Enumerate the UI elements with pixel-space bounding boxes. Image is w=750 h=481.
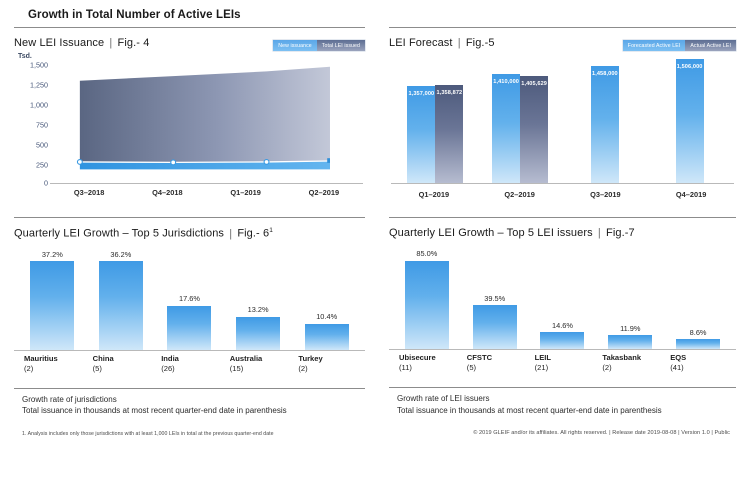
fig4-ytick-1000: 1,000 <box>30 101 48 110</box>
fig4-xlabel-q3-2018: Q3–2018 <box>50 188 128 197</box>
fig6-category-count-mauritius: (2) <box>24 364 87 374</box>
fig4-title-text: New LEI Issuance <box>14 37 104 49</box>
fig6-figure-label: Fig.- 6 <box>237 228 269 240</box>
fig4-legend-item-new-issuance[interactable]: New issuance <box>273 40 317 51</box>
fig7-title-separator: | <box>596 227 603 239</box>
fig5-bar-label-forecast-q2-2019: 1,410,000 <box>493 79 519 85</box>
fig4-marker-q4-2018 <box>171 160 176 165</box>
fig4-ytick-250: 250 <box>36 161 48 170</box>
fig6-category-name-china: China <box>93 354 156 364</box>
fig7-chart: 85.0% 39.5% 14.6% 11.9% <box>389 245 736 385</box>
fig7-bar-takasbank[interactable] <box>608 335 652 349</box>
fig6-value-china: 36.2% <box>110 250 131 259</box>
fig5-figure-label: Fig.-5 <box>466 37 495 49</box>
fig5-header: LEI Forecast | Fig.-5 Forecasted Active … <box>389 37 736 51</box>
fig6-bars: 37.2% 36.2% 17.6% 13.2% <box>18 250 361 350</box>
fig6-category-name-australia: Australia <box>230 354 293 364</box>
fig7-value-ubisecure: 85.0% <box>416 249 437 258</box>
fig6-value-australia: 13.2% <box>248 305 269 314</box>
fig4-ytick-750: 750 <box>36 121 48 130</box>
fig4-figure-label: Fig.- 4 <box>118 37 150 49</box>
fig6-column-mauritius: 37.2% <box>18 250 87 350</box>
fig6-column-turkey: 10.4% <box>292 250 361 350</box>
fig7-category-leil: LEIL (21) <box>529 353 597 373</box>
fig6-category-count-australia: (15) <box>230 364 293 374</box>
fig7-category-ubisecure: Ubisecure (11) <box>393 353 461 373</box>
fig5-legend-item-forecasted-active-lei[interactable]: Forecasted Active LEI <box>623 40 686 51</box>
fig6-category-count-china: (5) <box>93 364 156 374</box>
fig5-group-q3-2019: 1,458,000 <box>563 59 648 183</box>
fig7-note-growth-rate: Growth rate of LEI issuers <box>397 393 736 405</box>
fig4-xlabel-q1-2019: Q1–2019 <box>207 188 285 197</box>
fig6-category-china: China (5) <box>87 354 156 374</box>
fig5-legend: Forecasted Active LEI Actual Active LEI <box>623 40 736 51</box>
fig4-chart: Tsd. 1,500 1,250 1,000 750 500 250 0 <box>14 55 365 205</box>
fig7-figure-label: Fig.-7 <box>606 227 635 239</box>
fig6-chart: 37.2% 36.2% 17.6% 13.2% <box>14 246 365 386</box>
fig6-category-name-turkey: Turkey <box>298 354 361 364</box>
fig5-bar-label-forecast-q3-2019: 1,458,000 <box>592 71 618 77</box>
fig5-xlabel-q1-2019: Q1–2019 <box>391 190 477 199</box>
fig7-bar-cfstc[interactable] <box>473 305 517 349</box>
fig6-category-australia: Australia (15) <box>224 354 293 374</box>
fig5-group-q2-2019: 1,410,000 1,405,629 <box>478 59 563 183</box>
fig7-column-leil: 14.6% <box>529 249 597 349</box>
fig4-marker-q3-2018 <box>77 160 82 165</box>
fig4-ytick-0: 0 <box>44 179 48 188</box>
fig7-value-eqs: 8.6% <box>690 328 707 337</box>
fig6-notes: Growth rate of jurisdictions Total issua… <box>14 389 365 417</box>
fig4-title-separator: | <box>107 37 114 49</box>
fig4-ytick-500: 500 <box>36 141 48 150</box>
fig5-group-q4-2019: 1,506,000 <box>647 59 732 183</box>
fig5-bar-actual-q1-2019[interactable]: 1,358,872 <box>435 85 463 183</box>
fig4-y-unit: Tsd. <box>18 53 32 60</box>
fig6-column-india: 17.6% <box>155 250 224 350</box>
dashboard-page: Growth in Total Number of Active LEIs Ne… <box>0 0 750 481</box>
fig6-bar-turkey[interactable] <box>305 324 349 350</box>
fig6-footnote-marker: 1 <box>269 227 273 234</box>
fig7-note-total-issuance: Total issuance in thousands at most rece… <box>397 405 736 417</box>
fig5-x-labels: Q1–2019 Q2–2019 Q3–2019 Q4–2019 <box>391 190 734 199</box>
fig5-bar-label-actual-q2-2019: 1,405,629 <box>521 81 547 87</box>
fig4-header: New LEI Issuance | Fig.- 4 New issuance … <box>14 37 365 51</box>
fig6-category-turkey: Turkey (2) <box>292 354 361 374</box>
fig6-category-count-turkey: (2) <box>298 364 361 374</box>
fig6-column-australia: 13.2% <box>224 250 293 350</box>
fig6-category-mauritius: Mauritius (2) <box>18 354 87 374</box>
fig4-legend-item-total-lei-issued[interactable]: Total LEI issued <box>317 40 365 51</box>
fig4-y-axis: Tsd. 1,500 1,250 1,000 750 500 250 0 <box>14 55 48 183</box>
fig6-note-growth-rate: Growth rate of jurisdictions <box>22 394 365 406</box>
fig7-bar-eqs[interactable] <box>676 339 720 349</box>
fig5-xlabel-q3-2019: Q3–2019 <box>563 190 649 199</box>
fig5-bar-forecast-q2-2019[interactable]: 1,410,000 <box>492 74 520 183</box>
fig5-title: LEI Forecast | Fig.-5 <box>389 37 495 49</box>
fig4-plot-area <box>50 63 330 175</box>
fig6-header: Quarterly LEI Growth – Top 5 Jurisdictio… <box>14 227 365 240</box>
fig7-category-name-takasbank: Takasbank <box>602 353 664 363</box>
fig7-category-count-leil: (21) <box>535 363 597 373</box>
fig5-legend-item-actual-active-lei[interactable]: Actual Active LEI <box>685 40 736 51</box>
fig7-title: Quarterly LEI Growth – Top 5 LEI issuers… <box>389 227 635 239</box>
fig7-category-name-cfstc: CFSTC <box>467 353 529 363</box>
chart-panel-fig5: LEI Forecast | Fig.-5 Forecasted Active … <box>375 21 736 205</box>
fig7-category-name-leil: LEIL <box>535 353 597 363</box>
chart-panel-fig4: New LEI Issuance | Fig.- 4 New issuance … <box>14 21 375 205</box>
fig7-category-labels: Ubisecure (11) CFSTC (5) LEIL (21) Takas… <box>393 353 732 373</box>
fig6-note-total-issuance: Total issuance in thousands at most rece… <box>22 405 365 417</box>
fig6-category-name-mauritius: Mauritius <box>24 354 87 364</box>
fig5-bar-forecast-q1-2019[interactable]: 1,357,000 <box>407 86 435 183</box>
fig6-category-india: India (26) <box>155 354 224 374</box>
fig6-column-china: 36.2% <box>87 250 156 350</box>
fig7-value-cfstc: 39.5% <box>484 294 505 303</box>
fig6-value-mauritius: 37.2% <box>42 250 63 259</box>
fig7-column-eqs: 8.6% <box>664 249 732 349</box>
fig7-bar-leil[interactable] <box>540 332 584 349</box>
fig7-column-takasbank: 11.9% <box>596 249 664 349</box>
fig6-title: Quarterly LEI Growth – Top 5 Jurisdictio… <box>14 227 273 240</box>
fig7-category-eqs: EQS (41) <box>664 353 732 373</box>
fig6-bar-india[interactable] <box>167 306 211 350</box>
fig7-column-ubisecure: 85.0% <box>393 249 461 349</box>
charts-grid: New LEI Issuance | Fig.- 4 New issuance … <box>14 21 736 437</box>
fig7-x-axis-line <box>389 349 736 350</box>
fig6-value-turkey: 10.4% <box>316 312 337 321</box>
fig4-title: New LEI Issuance | Fig.- 4 <box>14 37 149 49</box>
fig7-category-count-eqs: (41) <box>670 363 732 373</box>
fig5-bar-forecast-q3-2019[interactable]: 1,458,000 <box>591 66 619 183</box>
fig6-bar-mauritius[interactable] <box>30 261 74 350</box>
copyright-footer: © 2019 GLEIF and/or its affiliates. All … <box>389 416 736 436</box>
page-title: Growth in Total Number of Active LEIs <box>14 0 736 21</box>
fig7-category-name-eqs: EQS <box>670 353 732 363</box>
fig4-xlabel-q2-2019: Q2–2019 <box>285 188 363 197</box>
fig6-bar-china[interactable] <box>99 261 143 350</box>
fig7-notes: Growth rate of LEI issuers Total issuanc… <box>389 388 736 416</box>
fig7-category-count-cfstc: (5) <box>467 363 529 373</box>
fig4-marker-q1-2019 <box>264 160 269 165</box>
fig6-bar-australia[interactable] <box>236 317 280 350</box>
divider-top-left <box>14 27 365 28</box>
fig6-footnote: 1. Analysis includes only those jurisdic… <box>14 417 365 437</box>
divider-top-right <box>389 27 736 28</box>
fig7-title-text: Quarterly LEI Growth – Top 5 LEI issuers <box>389 227 593 239</box>
fig7-value-leil: 14.6% <box>552 321 573 330</box>
fig6-x-axis-line <box>14 350 365 351</box>
fig4-marker-q2-2019 <box>327 158 330 163</box>
fig7-bars: 85.0% 39.5% 14.6% 11.9% <box>393 249 732 349</box>
fig7-category-count-ubisecure: (11) <box>399 363 461 373</box>
fig4-xlabel-q4-2018: Q4–2018 <box>128 188 206 197</box>
fig6-category-name-india: India <box>161 354 224 364</box>
fig7-category-cfstc: CFSTC (5) <box>461 353 529 373</box>
fig6-category-count-india: (26) <box>161 364 224 374</box>
fig5-bars: 1,357,000 1,358,872 1,410,000 <box>393 59 732 183</box>
fig4-legend: New issuance Total LEI issued <box>273 40 365 51</box>
fig5-bar-label-forecast-q1-2019: 1,357,000 <box>408 91 434 97</box>
fig7-bar-ubisecure[interactable] <box>405 261 449 350</box>
fig6-title-text: Quarterly LEI Growth – Top 5 Jurisdictio… <box>14 228 224 240</box>
fig5-xlabel-q2-2019: Q2–2019 <box>477 190 563 199</box>
fig5-xlabel-q4-2019: Q4–2019 <box>648 190 734 199</box>
fig4-x-axis-line <box>50 183 363 184</box>
fig5-group-q1-2019: 1,357,000 1,358,872 <box>393 59 478 183</box>
fig6-category-labels: Mauritius (2) China (5) India (26) Austr… <box>18 354 361 374</box>
fig7-category-name-ubisecure: Ubisecure <box>399 353 461 363</box>
fig5-title-separator: | <box>456 37 463 49</box>
fig5-bar-forecast-q4-2019[interactable]: 1,506,000 <box>676 59 704 183</box>
fig5-bar-actual-q2-2019[interactable]: 1,405,629 <box>520 76 548 183</box>
fig7-category-count-takasbank: (2) <box>602 363 664 373</box>
fig5-title-text: LEI Forecast <box>389 37 453 49</box>
chart-panel-fig6: Quarterly LEI Growth – Top 5 Jurisdictio… <box>14 205 375 437</box>
fig5-bar-label-forecast-q4-2019: 1,506,000 <box>677 64 703 70</box>
divider-bottom-left <box>14 217 365 218</box>
fig7-value-takasbank: 11.9% <box>620 324 640 333</box>
fig6-value-india: 17.6% <box>179 294 200 303</box>
fig4-area-total-lei-issued <box>80 67 330 164</box>
divider-bottom-right <box>389 217 736 218</box>
fig5-x-axis-line <box>391 183 734 184</box>
fig5-chart: 1,357,000 1,358,872 1,410,000 <box>389 55 736 205</box>
fig4-ytick-1250: 1,250 <box>30 81 48 90</box>
fig7-header: Quarterly LEI Growth – Top 5 LEI issuers… <box>389 227 736 239</box>
fig7-column-cfstc: 39.5% <box>461 249 529 349</box>
fig4-ytick-1500: 1,500 <box>30 61 48 70</box>
fig7-category-takasbank: Takasbank (2) <box>596 353 664 373</box>
chart-panel-fig7: Quarterly LEI Growth – Top 5 LEI issuers… <box>375 205 736 437</box>
fig6-title-separator: | <box>227 228 234 240</box>
fig4-x-labels: Q3–2018 Q4–2018 Q1–2019 Q2–2019 <box>50 188 363 197</box>
fig5-bar-label-actual-q1-2019: 1,358,872 <box>436 90 462 96</box>
